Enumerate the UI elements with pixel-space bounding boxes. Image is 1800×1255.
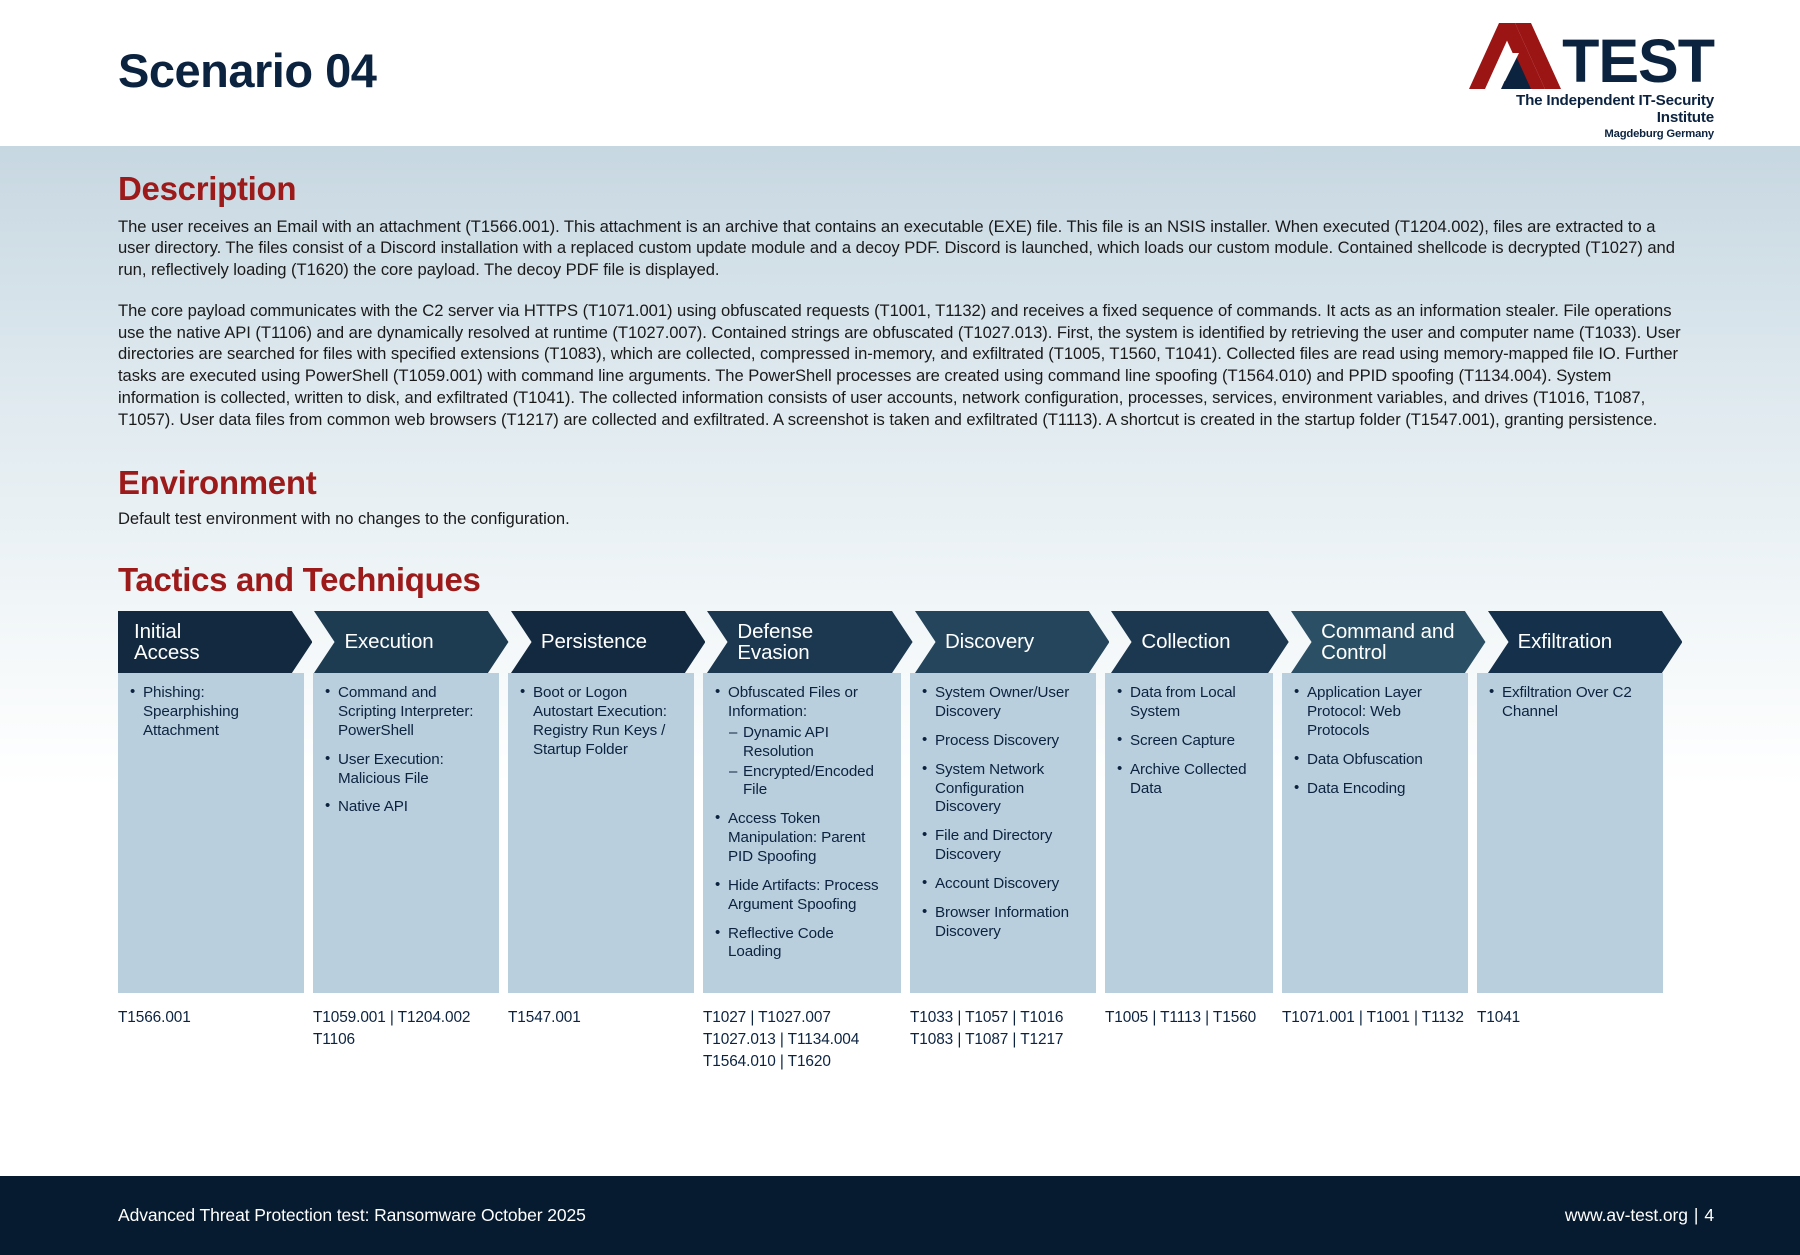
av-test-logo: TEST The Independent IT-Security Institu… — [1464, 17, 1714, 129]
tactic-panel-persistence: Boot or Logon Autostart Execution: Regis… — [508, 673, 694, 993]
page-footer: Advanced Threat Protection test: Ransomw… — [0, 1176, 1800, 1255]
logo-tagline: The Independent IT-Security Institute — [1464, 92, 1714, 126]
tactic-ids-defense-evasion: T1027 | T1027.007 T1027.013 | T1134.004 … — [703, 1007, 901, 1073]
technique-list: Application Layer Protocol: Web Protocol… — [1292, 684, 1456, 798]
tactic-panel-exfiltration: Exfiltration Over C2 Channel — [1477, 673, 1663, 993]
tactic-ids-discovery: T1033 | T1057 | T1016 T1083 | T1087 | T1… — [910, 1007, 1096, 1073]
footer-page-number: 4 — [1704, 1205, 1714, 1226]
technique-item: Access Token Manipulation: Parent PID Sp… — [713, 810, 889, 867]
tactic-ids-execution: T1059.001 | T1204.002 T1106 — [313, 1007, 499, 1073]
tactic-panel-collection: Data from Local SystemScreen CaptureArch… — [1105, 673, 1273, 993]
tactic-ids-command-and-control: T1071.001 | T1001 | T1132 — [1282, 1007, 1468, 1073]
tactics-ids-row: T1566.001T1059.001 | T1204.002 T1106T154… — [118, 1007, 1684, 1073]
tactic-header-defense-evasion: Defense Evasion — [707, 611, 913, 673]
technique-item: Data Encoding — [1292, 780, 1456, 799]
technique-item: Screen Capture — [1115, 732, 1261, 751]
tactic-header-initial-access: Initial Access — [118, 611, 312, 673]
page-header: Scenario 04 TEST The Independent IT-Secu… — [0, 0, 1800, 146]
tactics-body-row: Phishing: Spearphishing AttachmentComman… — [118, 673, 1684, 993]
technique-item: Account Discovery — [920, 875, 1084, 894]
technique-item: System Owner/User Discovery — [920, 684, 1084, 722]
technique-item: Process Discovery — [920, 732, 1084, 751]
technique-list: Phishing: Spearphishing Attachment — [128, 684, 292, 741]
footer-website-link[interactable]: www.av-test.org — [1565, 1205, 1688, 1226]
technique-item: Exfiltration Over C2 Channel — [1487, 684, 1651, 722]
page-title: Scenario 04 — [118, 47, 376, 100]
technique-subitem: Encrypted/Encoded File — [728, 763, 889, 801]
technique-item: Archive Collected Data — [1115, 761, 1261, 799]
footer-test-name: Advanced Threat Protection test: Ransomw… — [118, 1205, 586, 1226]
technique-item: Data Obfuscation — [1292, 751, 1456, 770]
av-mark-icon — [1469, 23, 1561, 89]
tactic-ids-collection: T1005 | T1113 | T1560 — [1105, 1007, 1273, 1073]
tactic-ids-exfiltration: T1041 — [1477, 1007, 1663, 1073]
tactic-header-command-and-control: Command and Control — [1291, 611, 1485, 673]
technique-list: Data from Local SystemScreen CaptureArch… — [1115, 684, 1261, 798]
tactic-ids-persistence: T1547.001 — [508, 1007, 694, 1073]
technique-list: Exfiltration Over C2 Channel — [1487, 684, 1651, 722]
tactic-panel-discovery: System Owner/User DiscoveryProcess Disco… — [910, 673, 1096, 993]
technique-item: Command and Scripting Interpreter: Power… — [323, 684, 487, 741]
logo-wordmark: TEST — [1562, 33, 1714, 89]
tactics-header-row: Initial Access Execution Persistence Def… — [118, 611, 1684, 673]
technique-sublist: Dynamic API ResolutionEncrypted/Encoded … — [728, 724, 889, 800]
page-body: Description The user receives an Email w… — [0, 146, 1800, 1176]
technique-subitem: Dynamic API Resolution — [728, 724, 889, 762]
technique-item: Browser Information Discovery — [920, 904, 1084, 942]
tactic-header-execution: Execution — [314, 611, 508, 673]
tactic-header-discovery: Discovery — [915, 611, 1109, 673]
technique-item: Native API — [323, 798, 487, 817]
footer-separator: | — [1694, 1205, 1698, 1226]
technique-item: Phishing: Spearphishing Attachment — [128, 684, 292, 741]
logo-location: Magdeburg Germany — [1464, 128, 1714, 140]
tactic-header-label: Exfiltration — [1518, 631, 1613, 653]
page: Scenario 04 TEST The Independent IT-Secu… — [0, 0, 1800, 1255]
technique-item: Data from Local System — [1115, 684, 1261, 722]
tactic-header-label: Collection — [1141, 631, 1230, 653]
technique-item: Application Layer Protocol: Web Protocol… — [1292, 684, 1456, 741]
tactic-header-persistence: Persistence — [511, 611, 705, 673]
tactic-header-exfiltration: Exfiltration — [1488, 611, 1682, 673]
tactic-panel-execution: Command and Scripting Interpreter: Power… — [313, 673, 499, 993]
technique-list: Obfuscated Files or Information:Dynamic … — [713, 684, 889, 962]
technique-item: System Network Configuration Discovery — [920, 761, 1084, 818]
tactic-header-label: Discovery — [945, 631, 1034, 653]
description-paragraph-2: The core payload communicates with the C… — [118, 300, 1682, 430]
environment-text: Default test environment with no changes… — [118, 508, 1682, 530]
tactic-header-collection: Collection — [1111, 611, 1289, 673]
environment-heading: Environment — [118, 466, 1682, 501]
technique-item: User Execution: Malicious File — [323, 751, 487, 789]
technique-item: File and Directory Discovery — [920, 827, 1084, 865]
description-heading: Description — [118, 172, 1682, 207]
tactics-table: Initial Access Execution Persistence Def… — [118, 611, 1684, 1073]
tactic-panel-command-and-control: Application Layer Protocol: Web Protocol… — [1282, 673, 1468, 993]
footer-meta: www.av-test.org | 4 — [1565, 1205, 1714, 1226]
tactic-header-label: Defense Evasion — [737, 621, 813, 664]
technique-list: Command and Scripting Interpreter: Power… — [323, 684, 487, 817]
technique-item: Hide Artifacts: Process Argument Spoofin… — [713, 877, 889, 915]
tactic-header-label: Command and Control — [1321, 621, 1454, 664]
tactic-header-label: Initial Access — [134, 621, 199, 664]
technique-list: Boot or Logon Autostart Execution: Regis… — [518, 684, 682, 759]
technique-item: Boot or Logon Autostart Execution: Regis… — [518, 684, 682, 759]
technique-list: System Owner/User DiscoveryProcess Disco… — [920, 684, 1084, 941]
tactic-header-label: Persistence — [541, 631, 647, 653]
description-paragraph-1: The user receives an Email with an attac… — [118, 216, 1682, 281]
tactic-panel-initial-access: Phishing: Spearphishing Attachment — [118, 673, 304, 993]
tactic-panel-defense-evasion: Obfuscated Files or Information:Dynamic … — [703, 673, 901, 993]
tactic-ids-initial-access: T1566.001 — [118, 1007, 304, 1073]
technique-item: Reflective Code Loading — [713, 925, 889, 963]
tactics-heading: Tactics and Techniques — [118, 563, 1682, 598]
tactic-header-label: Execution — [344, 631, 433, 653]
technique-item: Obfuscated Files or Information:Dynamic … — [713, 684, 889, 800]
